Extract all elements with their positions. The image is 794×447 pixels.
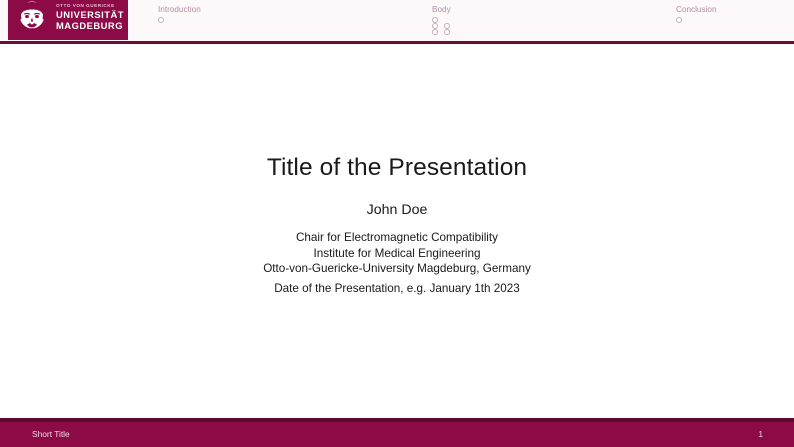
nav-label-body: Body	[432, 5, 452, 15]
slide-body: Title of the Presentation John Doe Chair…	[0, 44, 794, 416]
presentation-slide: OTTO VON GUERICKE UNIVERSITÄT MAGDEBURG …	[0, 0, 794, 447]
otto-von-guericke-portrait-icon	[10, 0, 54, 40]
presentation-author: John Doe	[0, 202, 794, 218]
nav-section-conclusion[interactable]: Conclusion	[676, 5, 717, 23]
logo-line-magdeburg: MAGDEBURG	[56, 20, 128, 31]
nav-section-body[interactable]: Body	[432, 5, 452, 35]
nav-label-conclusion: Conclusion	[676, 5, 717, 15]
nav-frame-dot-icon[interactable]	[676, 17, 682, 23]
footer-page-number: 1	[758, 429, 763, 439]
footer-short-title: Short Title	[32, 429, 70, 439]
nav-dot-row	[432, 29, 452, 35]
nav-section-introduction[interactable]: Introduction	[158, 5, 201, 23]
nav-frame-dot-icon[interactable]	[444, 29, 450, 35]
nav-label-introduction: Introduction	[158, 5, 201, 15]
logo-line-university: UNIVERSITÄT	[56, 9, 128, 20]
nav-frame-dot-icon[interactable]	[158, 17, 164, 23]
nav-dot-row	[676, 17, 717, 23]
presentation-date: Date of the Presentation, e.g. January 1…	[0, 282, 794, 295]
slide-header: OTTO VON GUERICKE UNIVERSITÄT MAGDEBURG …	[0, 0, 794, 41]
institute-line: Chair for Electromagnetic Compatibility	[0, 230, 794, 246]
university-logo: OTTO VON GUERICKE UNIVERSITÄT MAGDEBURG	[8, 0, 128, 40]
nav-dots-body	[432, 17, 452, 35]
presentation-title: Title of the Presentation	[0, 154, 794, 182]
nav-dots-introduction	[158, 17, 201, 23]
nav-dot-row	[158, 17, 201, 23]
university-logo-text: OTTO VON GUERICKE UNIVERSITÄT MAGDEBURG	[56, 3, 128, 31]
nav-dots-conclusion	[676, 17, 717, 23]
institute-line: Otto-von-Guericke-University Magdeburg, …	[0, 261, 794, 277]
nav-frame-dot-icon[interactable]	[432, 29, 438, 35]
institute-line: Institute for Medical Engineering	[0, 246, 794, 262]
slide-footer: Short Title 1	[0, 422, 794, 447]
presentation-institute: Chair for Electromagnetic Compatibility …	[0, 230, 794, 277]
